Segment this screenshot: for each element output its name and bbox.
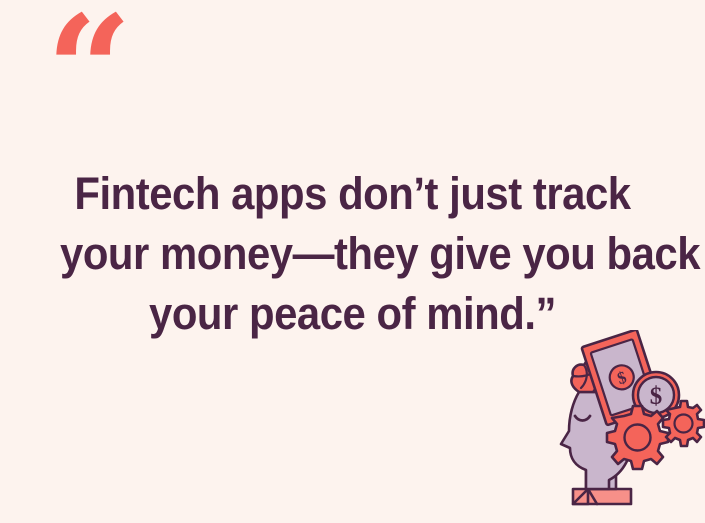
head-with-brain-money-gears-illustration: $ $ bbox=[545, 330, 705, 523]
quote-line-1: Fintech apps don’t just track bbox=[60, 164, 645, 224]
quote-card: “ Fintech apps don’t just track your mon… bbox=[0, 0, 705, 523]
coin-dollar-symbol: $ bbox=[650, 383, 663, 410]
shoulder-base bbox=[573, 489, 631, 504]
open-quote-icon: “ bbox=[46, 0, 128, 146]
quote-text: Fintech apps don’t just track your money… bbox=[60, 164, 645, 344]
quote-line-2: your money—they give you back bbox=[60, 224, 645, 284]
